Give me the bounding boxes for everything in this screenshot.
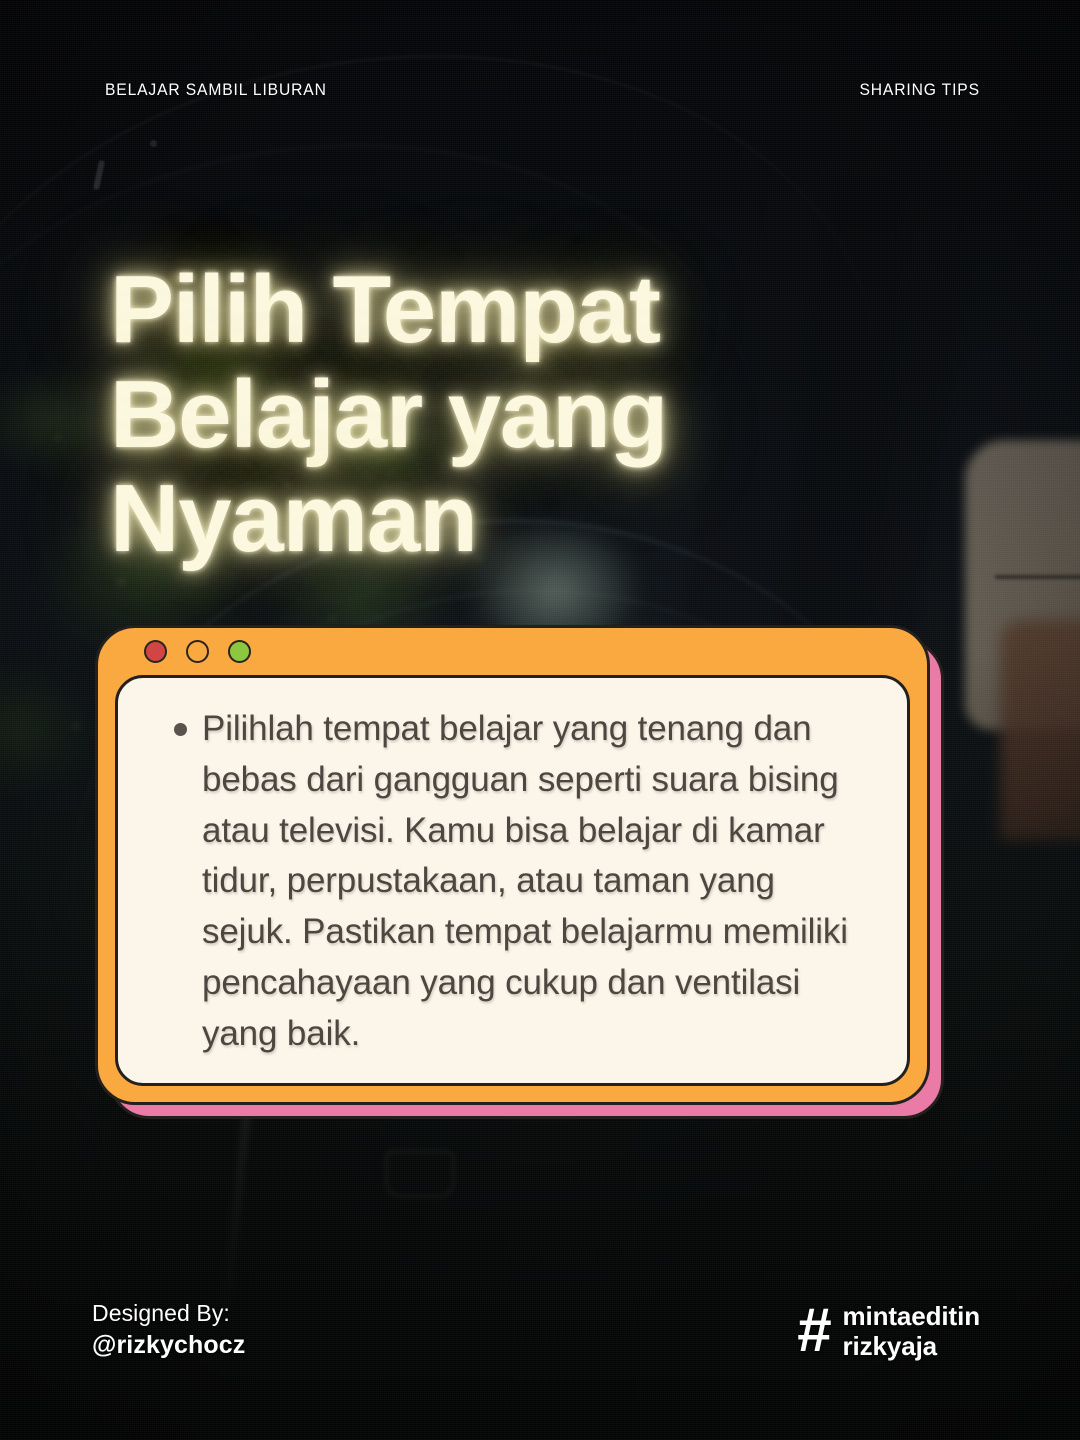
designed-by-label: Designed By: [92,1298,245,1329]
card-body: Pilihlah tempat belajar yang tenang dan … [118,678,907,1059]
hash-icon: # [797,1305,830,1358]
designer-credit: Designed By: @rizkychocz [92,1298,245,1362]
content-layer: BELAJAR SAMBIL LIBURAN SHARING TIPS Pili… [0,0,1080,1440]
page-title: Pilih Tempat Belajar yang Nyaman [110,258,870,572]
designer-handle: @rizkychocz [92,1329,245,1363]
tip-bullet-list: Pilihlah tempat belajar yang tenang dan … [164,704,871,1059]
category-label-right: SHARING TIPS [860,80,980,100]
poster-canvas: BELAJAR SAMBIL LIBURAN SHARING TIPS Pili… [0,0,1080,1440]
window-titlebar [98,628,927,675]
category-label-left: BELAJAR SAMBIL LIBURAN [105,80,327,100]
minimize-dot-icon[interactable] [186,640,209,663]
brand-line-2: rizkyaja [842,1331,980,1362]
page-title-line-1: Pilih Tempat [110,258,870,363]
card-content-panel: Pilihlah tempat belajar yang tenang dan … [115,675,910,1086]
brand-logo: # mintaeditin rizkyaja [797,1301,980,1362]
maximize-dot-icon[interactable] [228,640,251,663]
page-title-line-3: Nyaman [110,467,870,572]
tip-card: Pilihlah tempat belajar yang tenang dan … [95,625,930,1105]
list-item: Pilihlah tempat belajar yang tenang dan … [164,704,871,1059]
card-window-frame: Pilihlah tempat belajar yang tenang dan … [95,625,930,1105]
close-dot-icon[interactable] [144,640,167,663]
brand-name: mintaeditin rizkyaja [842,1301,980,1362]
brand-line-1: mintaeditin [842,1301,980,1332]
page-title-line-2: Belajar yang [110,363,870,468]
top-meta-bar: BELAJAR SAMBIL LIBURAN SHARING TIPS [105,80,980,100]
